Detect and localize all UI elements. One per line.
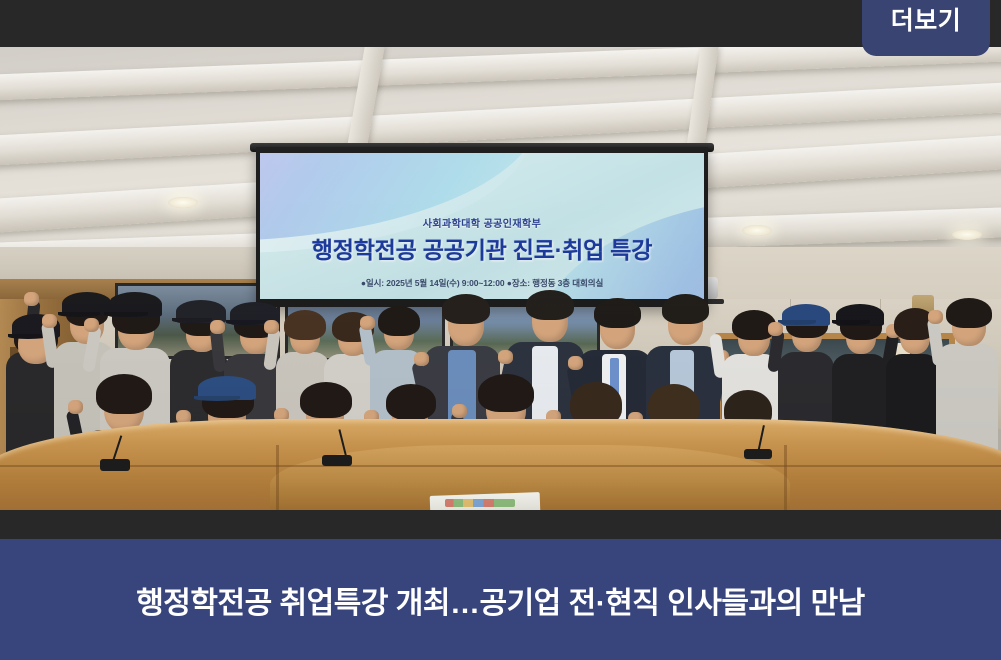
desk-microphone <box>744 449 772 459</box>
desk-document-graphics <box>445 499 515 507</box>
top-bar <box>0 0 1001 47</box>
desk-seam <box>0 465 1001 467</box>
bottom-dark-strip <box>0 510 1001 539</box>
desk-seam <box>276 445 279 510</box>
slide-eyebrow: 사회과학대학 공공인재학부 <box>260 215 704 230</box>
article-headline: 행정학전공 취업특강 개최…공기업 전·현직 인사들과의 만남 <box>136 578 865 622</box>
ceiling-downlight <box>168 197 198 208</box>
article-card: 사회과학대학 공공인재학부 행정학전공 공공기관 진로·취업 특강 ●일시: 2… <box>0 0 1001 660</box>
ceiling-downlight <box>742 225 772 236</box>
caption-band: 행정학전공 취업특강 개최…공기업 전·현직 인사들과의 만남 <box>0 539 1001 660</box>
desk-microphone <box>322 455 352 466</box>
desk-microphone <box>100 459 130 471</box>
event-group-photo: 사회과학대학 공공인재학부 행정학전공 공공기관 진로·취업 특강 ●일시: 2… <box>0 47 1001 510</box>
desk-seam <box>784 445 787 510</box>
more-button[interactable]: 더보기 <box>862 0 990 56</box>
ceiling-downlight <box>952 229 982 240</box>
